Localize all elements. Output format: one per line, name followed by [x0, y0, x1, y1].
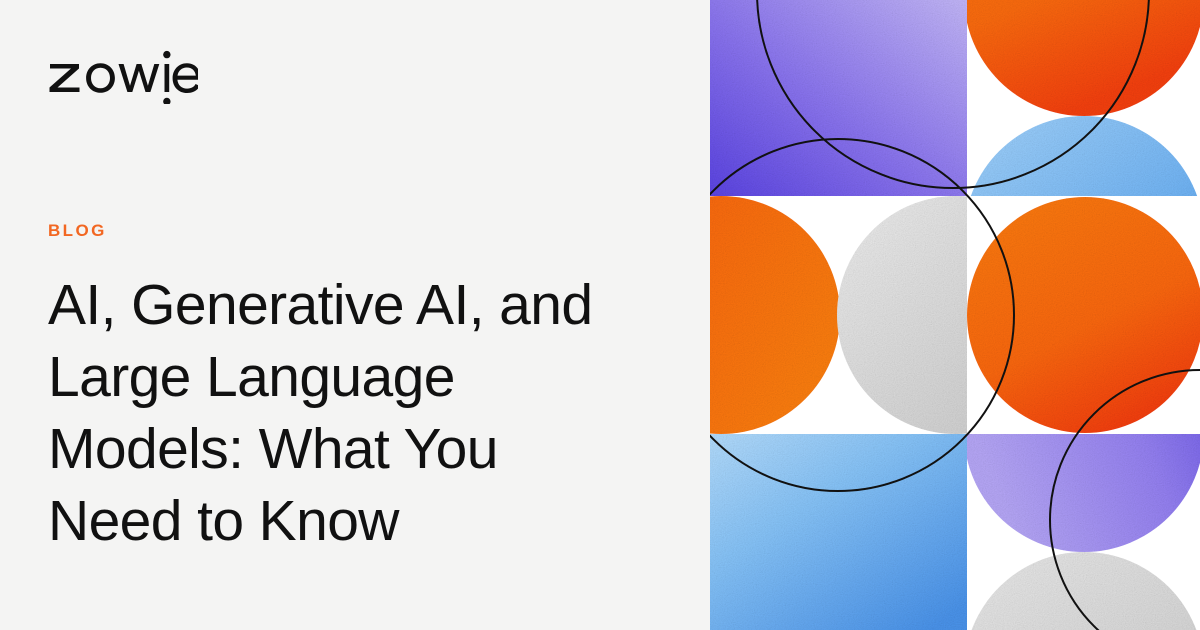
category-label: BLOG: [48, 222, 668, 239]
zowie-wordmark-icon: [48, 42, 198, 104]
tile-top-left: [710, 0, 967, 196]
zowie-logo[interactable]: [48, 44, 198, 102]
tile-middle-right: [967, 196, 1200, 434]
blog-share-card: BLOG AI, Generative AI, and Large Langua…: [0, 0, 1200, 630]
tile-bottom-left: [710, 434, 967, 630]
headline-block: BLOG AI, Generative AI, and Large Langua…: [48, 222, 668, 557]
page-title: AI, Generative AI, and Large Language Mo…: [48, 269, 668, 557]
abstract-circle-grid-graphic: [710, 0, 1200, 630]
artwork-panel: [710, 0, 1200, 630]
content-panel: BLOG AI, Generative AI, and Large Langua…: [0, 0, 710, 630]
